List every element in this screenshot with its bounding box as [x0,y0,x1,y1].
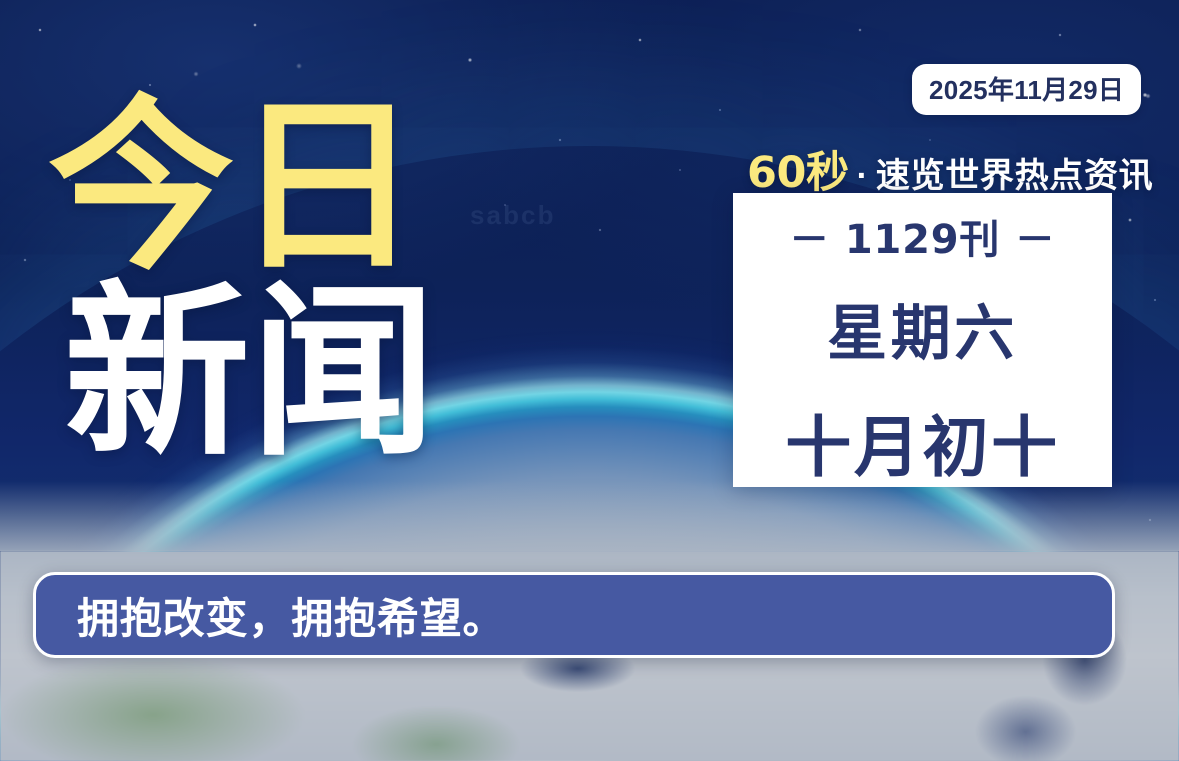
quote-banner: 拥抱改变，拥抱希望。 [33,572,1115,658]
tagline-separator-dot: · [849,157,876,196]
page-title: 今日 新闻 [48,96,437,465]
surface-fade [0,481,1179,551]
tagline-description: 速览世界热点资讯 [876,148,1153,197]
watermark-text: sabcb [470,200,556,231]
lunar-date-label: 十月初十 [785,394,1060,490]
quote-text: 拥抱改变，拥抱希望。 [77,585,505,646]
issue-number: － 1129刊 － [789,207,1055,265]
headline-line-today: 今日 [48,96,437,278]
tagline: 60秒 · 速览世界热点资讯 [747,138,1153,200]
tagline-seconds: 60秒 [747,138,849,200]
date-badge: 2025年11月29日 [912,64,1141,115]
weekday-label: 星期六 [827,285,1018,372]
news-poster: sabcb 今日 新闻 2025年11月29日 60秒 · 速览世界热点资讯 －… [0,0,1179,761]
issue-info-card: － 1129刊 － 星期六 十月初十 [733,193,1112,487]
headline-line-news: 新闻 [64,282,437,464]
